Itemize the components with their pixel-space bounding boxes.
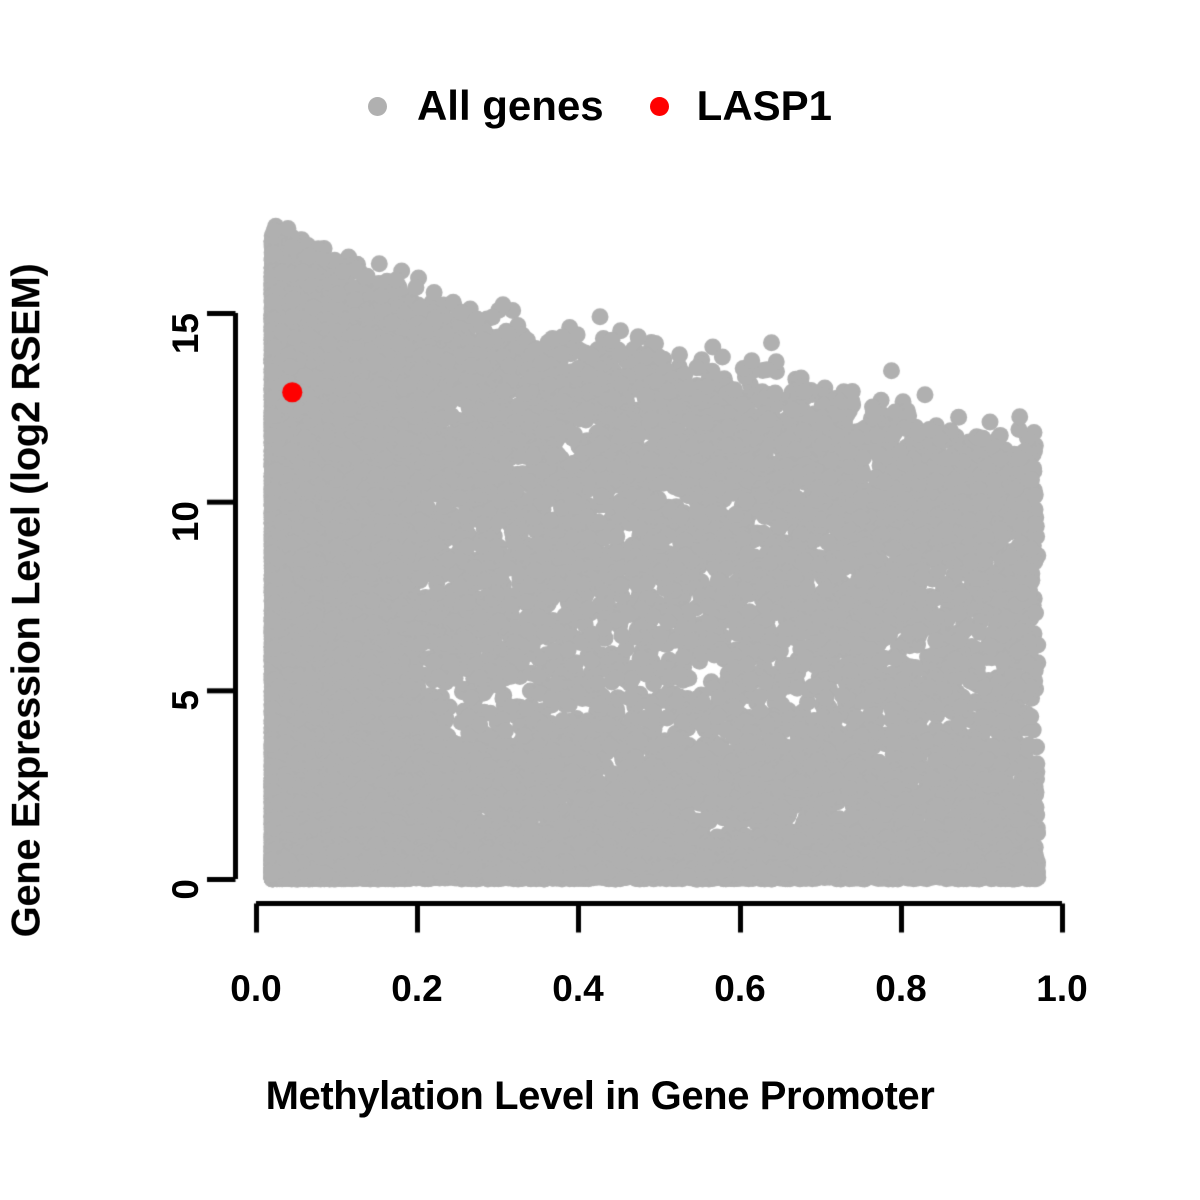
legend-label-all-genes: All genes — [417, 82, 604, 130]
x-tick-label-0: 0.0 — [230, 968, 281, 1010]
y-tick-label-1: 5 — [165, 690, 207, 711]
x-tick-label-5: 1.0 — [1036, 968, 1087, 1010]
legend-entry-lasp1: LASP1 — [650, 82, 832, 130]
legend-label-lasp1: LASP1 — [697, 82, 832, 130]
legend-entry-all-genes: All genes — [368, 82, 604, 130]
x-tick-label-1: 0.2 — [391, 968, 442, 1010]
scatter-plot-figure: All genes LASP1 0.0 0.2 0.4 0.6 0.8 1.0 … — [0, 0, 1200, 1200]
legend-red-dot-icon — [650, 97, 669, 116]
y-tick-label-0: 0 — [165, 879, 207, 900]
y-tick-label-2: 10 — [165, 501, 207, 542]
chart-legend: All genes LASP1 — [0, 82, 1200, 130]
scatter-plot-canvas — [0, 0, 1200, 1200]
legend-grey-dot-icon — [368, 97, 387, 116]
x-axis-title: Methylation Level in Gene Promoter — [0, 1074, 1200, 1119]
x-tick-label-2: 0.4 — [552, 968, 603, 1010]
y-tick-label-3: 15 — [165, 313, 207, 354]
x-tick-label-4: 0.8 — [875, 968, 926, 1010]
x-tick-label-3: 0.6 — [714, 968, 765, 1010]
